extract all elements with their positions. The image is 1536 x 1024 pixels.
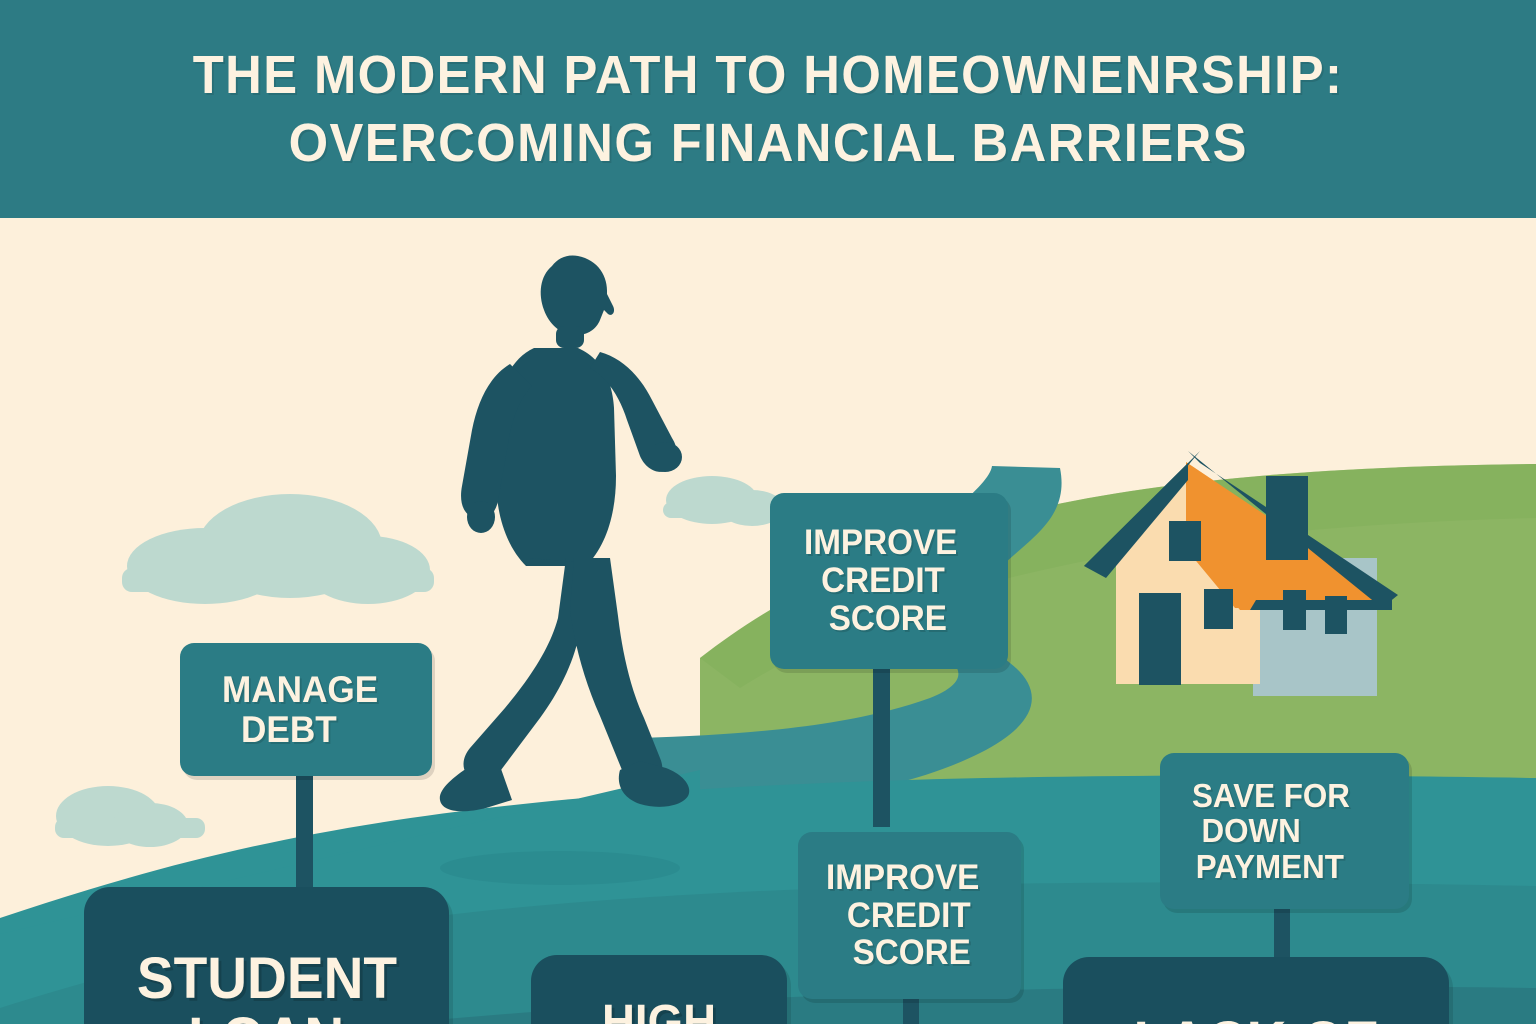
student-loan-line-2: LOAN (188, 1009, 344, 1024)
house-chimney (1266, 476, 1308, 560)
save-down-line-1: SAVE FOR (1192, 778, 1398, 814)
improve-credit-score-sign-upper[interactable]: IMPROVE CREDIT SCORE (770, 493, 1008, 669)
improve-credit-score-upper-post (873, 667, 890, 827)
high-interest-rates-barrier[interactable]: HIGH INTEREST RATES (531, 955, 787, 1024)
student-loan-debt-barrier[interactable]: STUDENT LOAN DEBT (84, 887, 449, 1024)
high-interest-line-1: HIGH (602, 998, 716, 1024)
student-loan-line-1: STUDENT (136, 949, 396, 1009)
save-for-down-payment-sign[interactable]: SAVE FOR DOWN PAYMENT (1160, 753, 1409, 909)
infographic-canvas: THE MODERN PATH TO HOMEOWNENRSHIP: OVERC… (0, 0, 1536, 1024)
credit-lower-line-1: IMPROVE (826, 859, 1011, 897)
save-down-line-3: PAYMENT (1192, 849, 1398, 885)
figure-shadow (440, 851, 680, 885)
manage-debt-sign[interactable]: MANAGE DEBT (180, 643, 432, 776)
lack-of-savings-barrier[interactable]: LACK OF SAVINGS (1063, 957, 1449, 1024)
manage-debt-line-2: DEBT (222, 710, 422, 750)
title-banner: THE MODERN PATH TO HOMEOWNENRSHIP: OVERC… (0, 0, 1536, 218)
manage-debt-line-1: MANAGE (222, 670, 422, 710)
credit-lower-line-2: CREDIT (826, 897, 1011, 935)
house-roof-eave-right (1250, 600, 1392, 610)
save-down-line-2: DOWN (1192, 813, 1398, 849)
lack-savings-line-1: LACK OF (1134, 1013, 1379, 1024)
improve-credit-score-lower-post (903, 997, 919, 1024)
credit-upper-line-2: CREDIT (804, 562, 998, 600)
house-front-door (1139, 593, 1181, 685)
credit-upper-line-3: SCORE (804, 600, 998, 638)
scene-illustration: MANAGE DEBT IMPROVE CREDIT SCORE IMPROVE… (0, 218, 1536, 1024)
house-gable-window (1169, 521, 1201, 561)
improve-credit-score-sign-lower[interactable]: IMPROVE CREDIT SCORE (798, 832, 1021, 999)
credit-lower-line-3: SCORE (826, 934, 1011, 972)
title-line-1: THE MODERN PATH TO HOMEOWNENRSHIP: (193, 48, 1344, 102)
house-side-window-1 (1283, 590, 1306, 630)
title-line-2: OVERCOMING FINANCIAL BARRIERS (288, 116, 1247, 170)
credit-upper-line-1: IMPROVE (804, 524, 998, 562)
house-side-window-2 (1325, 596, 1347, 634)
house-front-window (1204, 589, 1233, 629)
